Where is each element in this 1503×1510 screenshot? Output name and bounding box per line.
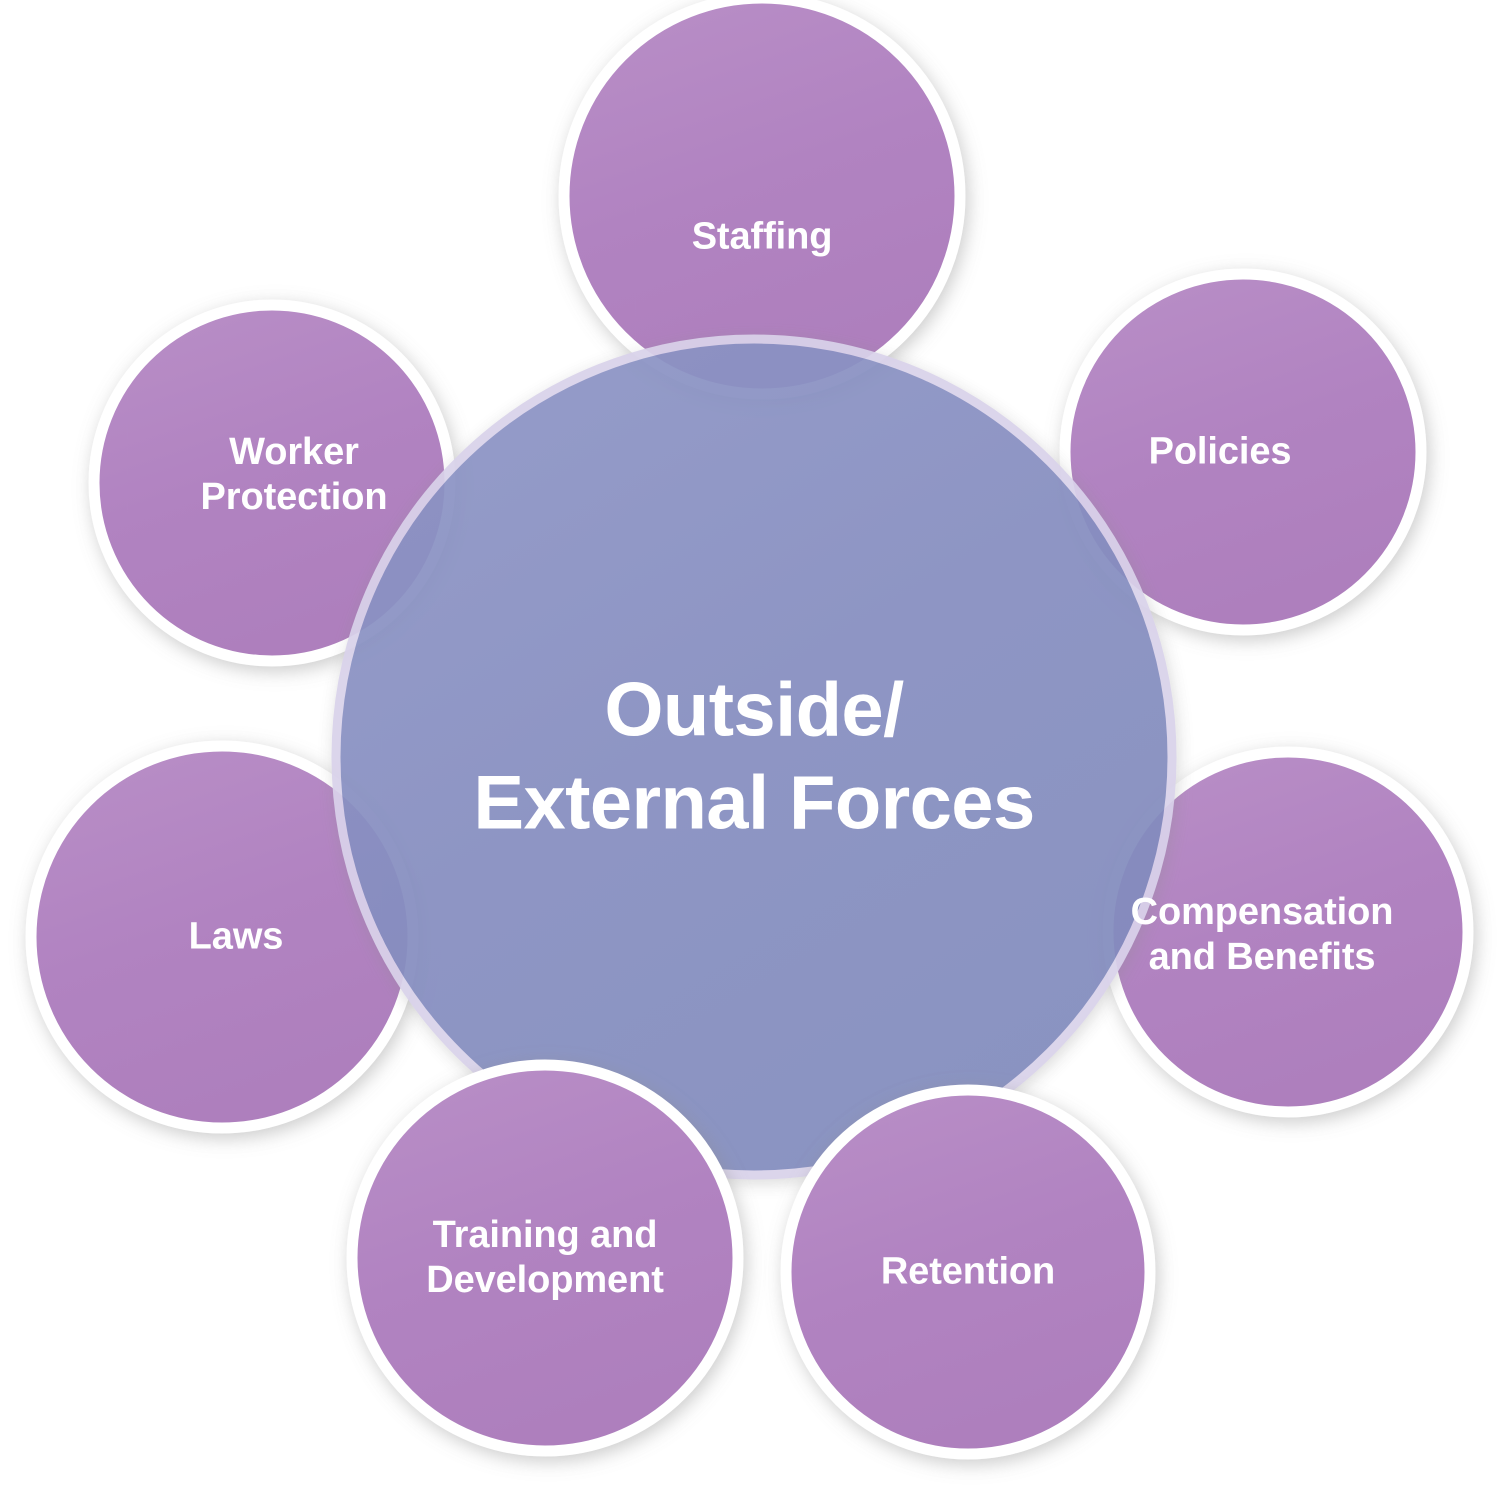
radial-diagram [0,0,1503,1510]
petal-circle-training-and-development[interactable] [352,1065,738,1451]
diagram-canvas: Outside/External Forces StaffingPolicies… [0,0,1503,1510]
center-circle-group [336,339,1172,1175]
center-circle-outside-external-forces[interactable] [336,339,1172,1175]
petal-circle-retention[interactable] [786,1090,1150,1454]
